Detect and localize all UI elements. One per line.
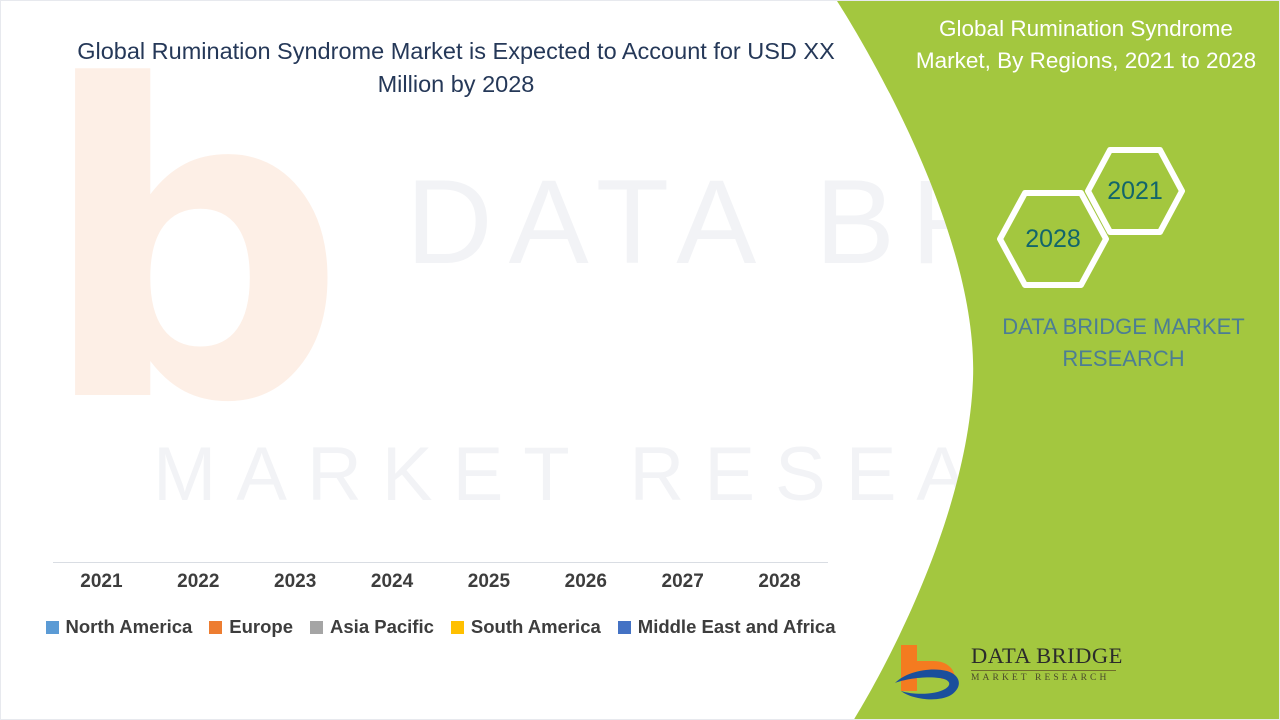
green-panel-content: Global Rumination Syndrome Market, By Re… — [1, 1, 1279, 719]
infographic-page: b DATA BRIDGE MARKET RESEARCH Global Rum… — [0, 0, 1280, 720]
hexagon-2028: 2028 — [997, 190, 1109, 288]
panel-title: Global Rumination Syndrome Market, By Re… — [906, 13, 1266, 77]
brand-line-1: DATA BRIDGE MARKET — [976, 311, 1271, 343]
brand-line-2: RESEARCH — [976, 343, 1271, 375]
data-bridge-logo: DATA BRIDGE MARKET RESEARCH — [891, 641, 1121, 703]
logo-wordmark: DATA BRIDGE MARKET RESEARCH — [971, 643, 1121, 683]
logo-mark-icon — [891, 641, 967, 701]
hexagon-2021-label: 2021 — [1107, 177, 1163, 206]
logo-divider — [971, 670, 1116, 671]
brand-name-text: DATA BRIDGE MARKET RESEARCH — [976, 311, 1271, 375]
logo-name: DATA BRIDGE — [971, 643, 1121, 669]
logo-tagline: MARKET RESEARCH — [971, 673, 1121, 683]
hexagon-2028-label: 2028 — [1025, 225, 1081, 254]
